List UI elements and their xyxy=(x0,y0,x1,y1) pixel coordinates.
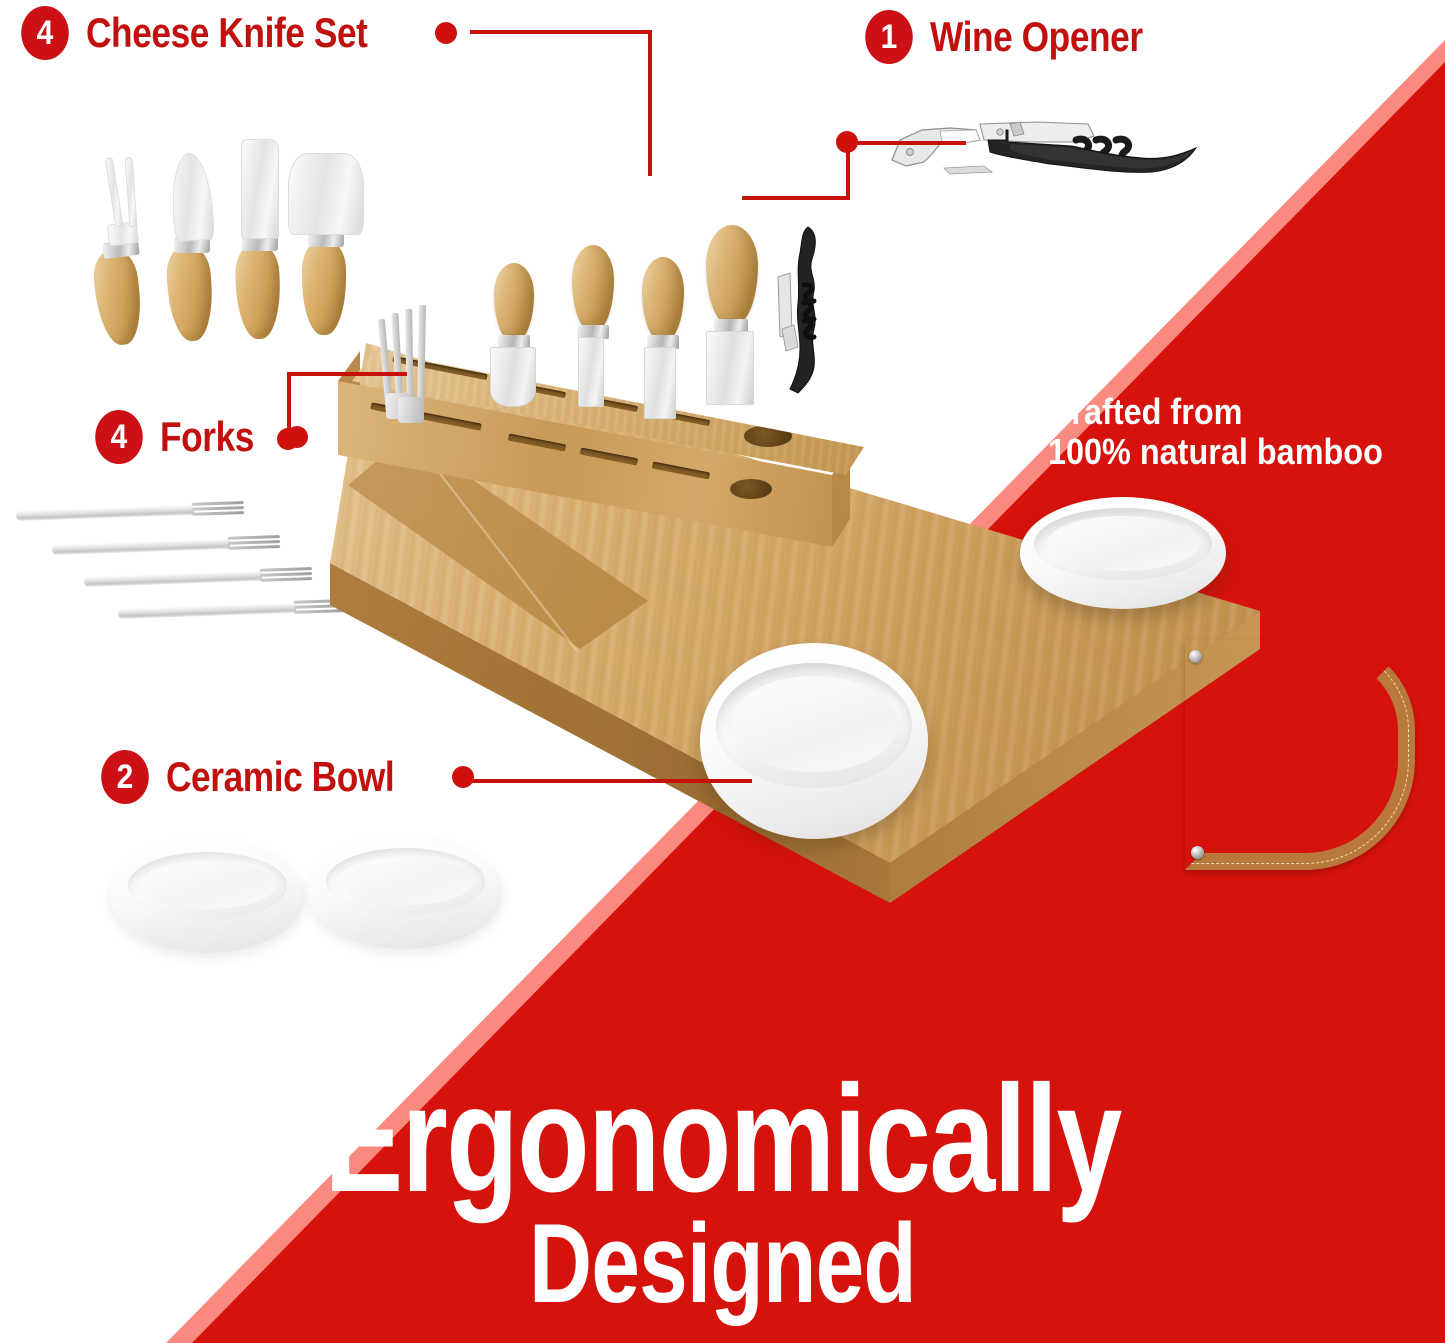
cheese-knife-in-holder-2 xyxy=(568,245,616,435)
callout-label: Ceramic Bowl xyxy=(166,756,394,798)
leader-dot xyxy=(435,22,457,44)
leader-dot-forks xyxy=(277,428,299,450)
callout-number-badge: 2 xyxy=(101,750,149,804)
cheese-knife-in-holder-1 xyxy=(488,263,536,443)
leader-line-forks xyxy=(287,372,407,376)
bamboo-claim: Crafted from 100% natural bamboo xyxy=(1048,392,1383,473)
wine-opener-svg xyxy=(880,100,1200,200)
forks-in-holder xyxy=(378,319,448,449)
callout-cheese-knife-set: 4 Cheese Knife Set xyxy=(18,6,457,60)
leader-dot-wine-opener xyxy=(836,131,858,153)
bamboo-claim-line-1: Crafted from xyxy=(1048,391,1242,432)
callout-number-badge: 1 xyxy=(865,10,913,64)
ceramic-bowl-on-board-far xyxy=(1020,497,1226,609)
fork-icon xyxy=(8,498,358,628)
leader-line-cheese-knife-set xyxy=(470,30,652,34)
callout-wine-opener: 1 Wine Opener xyxy=(862,10,1183,64)
callout-ceramic-bowl: 2 Ceramic Bowl xyxy=(98,750,474,804)
callout-number-badge: 4 xyxy=(95,410,143,464)
leather-handle-strap xyxy=(1185,640,1415,870)
cheese-knife-set-icon xyxy=(30,135,350,335)
ceramic-bowl-on-board-near xyxy=(700,643,928,839)
callout-label: Wine Opener xyxy=(930,16,1143,58)
cheese-knife-in-holder-4 xyxy=(702,225,760,435)
product-infographic: 4 Cheese Knife Set 1 Wine Opener 4 Forks… xyxy=(0,0,1445,1343)
leader-line-wine-opener-tail xyxy=(742,196,850,200)
leader-line-wine-opener xyxy=(846,141,966,145)
leader-line-cheese-knife-set-drop xyxy=(648,30,652,176)
wine-opener-icon xyxy=(880,100,1200,200)
bamboo-claim-line-2: 100% natural bamboo xyxy=(1048,431,1383,472)
callout-forks: 4 Forks xyxy=(92,410,308,464)
cheese-knife-in-holder-3 xyxy=(638,257,686,443)
wine-opener-standing-svg xyxy=(774,225,844,415)
bamboo-cheese-board xyxy=(330,255,1290,905)
callout-number-badge: 4 xyxy=(21,6,69,60)
leader-line-ceramic-bowl xyxy=(462,779,752,783)
callout-label: Forks xyxy=(160,416,254,458)
leader-dot xyxy=(452,766,474,788)
wine-opener-in-holder xyxy=(774,225,834,375)
callout-label: Cheese Knife Set xyxy=(86,12,368,54)
